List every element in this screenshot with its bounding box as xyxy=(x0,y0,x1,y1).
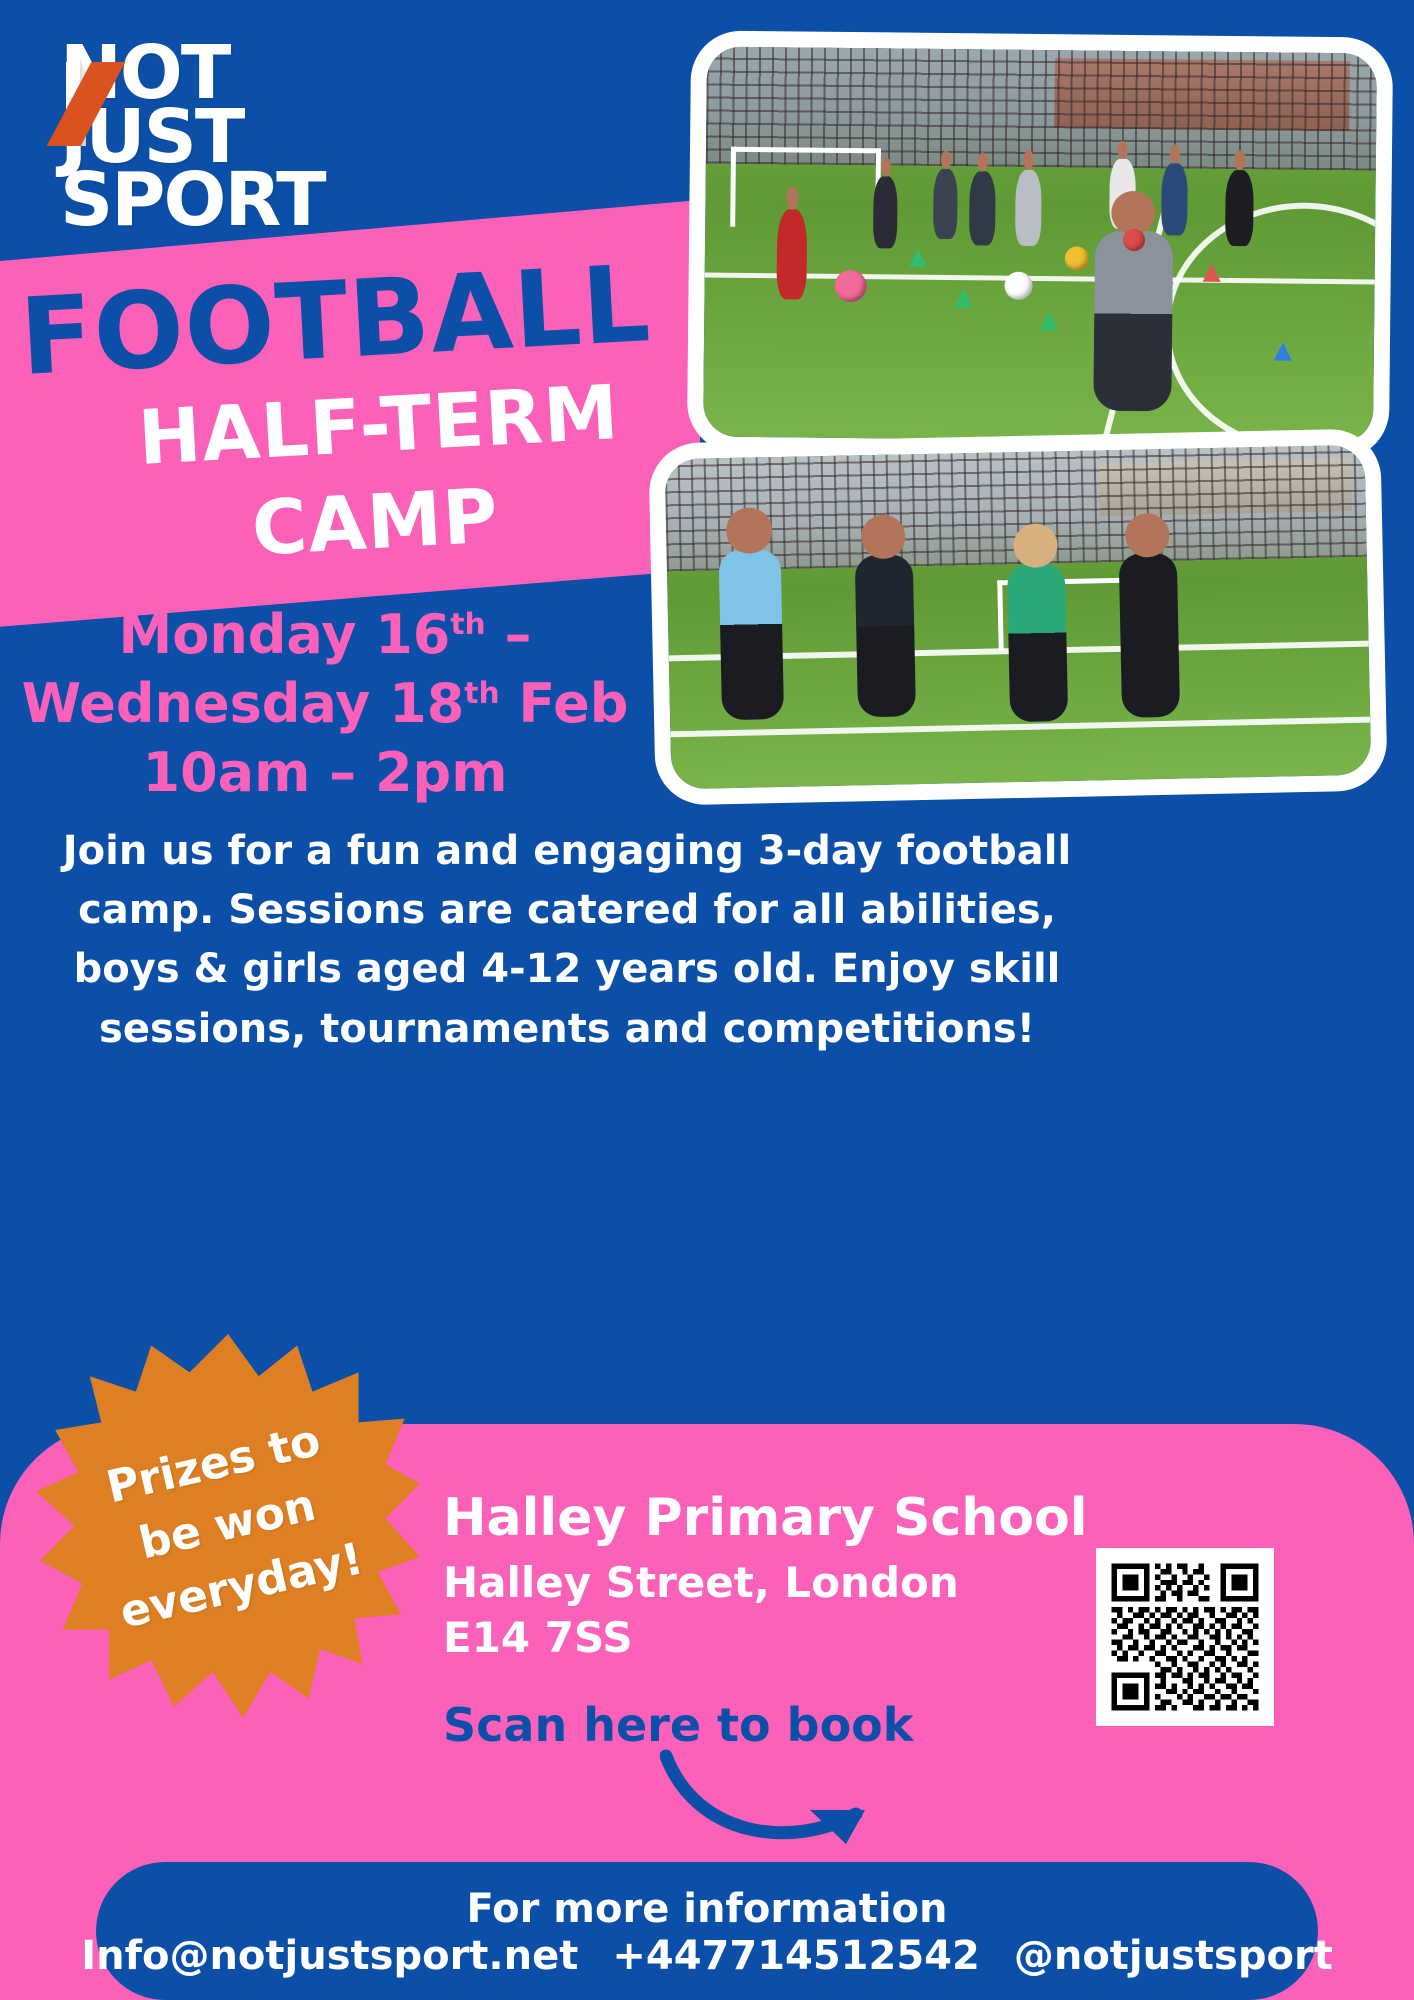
venue-street: Halley Street, London xyxy=(443,1556,959,1611)
photo-ball-1 xyxy=(834,270,866,302)
photo-cone-3 xyxy=(1040,312,1058,330)
photo-cone-5 xyxy=(1274,342,1292,360)
photo2-child-4 xyxy=(1119,553,1180,718)
event-date-line-1: Monday 16th – xyxy=(0,600,650,669)
footer-contacts: Info@notjustsport.net +447714512542 @not… xyxy=(81,1932,1333,1980)
photo-child-1 xyxy=(776,209,807,299)
photo-ball-3 xyxy=(1065,246,1089,270)
date-line2-ordinal: th xyxy=(464,676,499,711)
qr-code-icon[interactable] xyxy=(1106,1558,1264,1716)
date-line2-prefix: Wednesday 18 xyxy=(22,672,465,735)
event-description: Join us for a fun and engaging 3-day foo… xyxy=(62,822,1072,1059)
event-date-line-2: Wednesday 18th Feb xyxy=(0,669,650,738)
photo-cone-4 xyxy=(1203,264,1221,282)
event-dates: Monday 16th – Wednesday 18th Feb 10am – … xyxy=(0,600,650,807)
date-line1-ordinal: th xyxy=(450,607,485,642)
date-line1-suffix: – xyxy=(486,603,532,666)
brand-logo: NOT JUST SPORT xyxy=(60,42,360,233)
photo2-child-1 xyxy=(719,549,785,720)
photo-cone-1 xyxy=(909,249,927,267)
logo-line-3: SPORT xyxy=(60,169,360,233)
footer-title: For more information xyxy=(466,1886,947,1932)
date-line1-prefix: Monday 16 xyxy=(119,603,451,666)
event-time-line: 10am – 2pm xyxy=(0,738,650,807)
headline-camp: CAMP xyxy=(250,478,500,566)
venue-name: Halley Primary School xyxy=(443,1492,1088,1544)
footer-contact-bar: For more information Info@notjustsport.n… xyxy=(96,1862,1318,2000)
photo-child-foreground xyxy=(1093,231,1173,412)
photo-cone-2 xyxy=(954,289,972,307)
footer-email[interactable]: Info@notjustsport.net xyxy=(81,1932,578,1980)
venue-address: Halley Street, London E14 7SS xyxy=(443,1556,959,1665)
photo-ball-2 xyxy=(1004,272,1032,300)
footer-phone[interactable]: +447714512542 xyxy=(612,1932,980,1980)
photo-child-3 xyxy=(933,169,958,239)
photo2-child-3 xyxy=(1007,563,1068,722)
footer-social-handle[interactable]: @notjustsport xyxy=(1014,1932,1333,1980)
booking-qr-code[interactable] xyxy=(1096,1548,1274,1726)
headline-football: FOOTBALL xyxy=(18,251,654,391)
curved-arrow-icon xyxy=(660,1740,890,1860)
prizes-starburst-text: Prizes to be won everyday! xyxy=(36,1334,420,1718)
photo-child-4 xyxy=(969,171,996,245)
photo-child-5 xyxy=(1015,170,1042,246)
photo2-child-2 xyxy=(855,554,916,717)
poster-root: NOT JUST SPORT FOOTBALL HALF-TERM CAMP M… xyxy=(0,0,1414,2000)
photo-ball-4 xyxy=(1123,229,1145,251)
date-line2-suffix: Feb xyxy=(500,672,629,735)
photo-goal xyxy=(730,147,881,229)
photo-child-8 xyxy=(1225,170,1254,246)
photo-child-7 xyxy=(1161,163,1188,235)
photo-football-session xyxy=(703,47,1377,444)
photo-four-children xyxy=(665,445,1372,790)
venue-postcode: E14 7SS xyxy=(443,1611,959,1666)
photo-child-2 xyxy=(873,176,898,248)
